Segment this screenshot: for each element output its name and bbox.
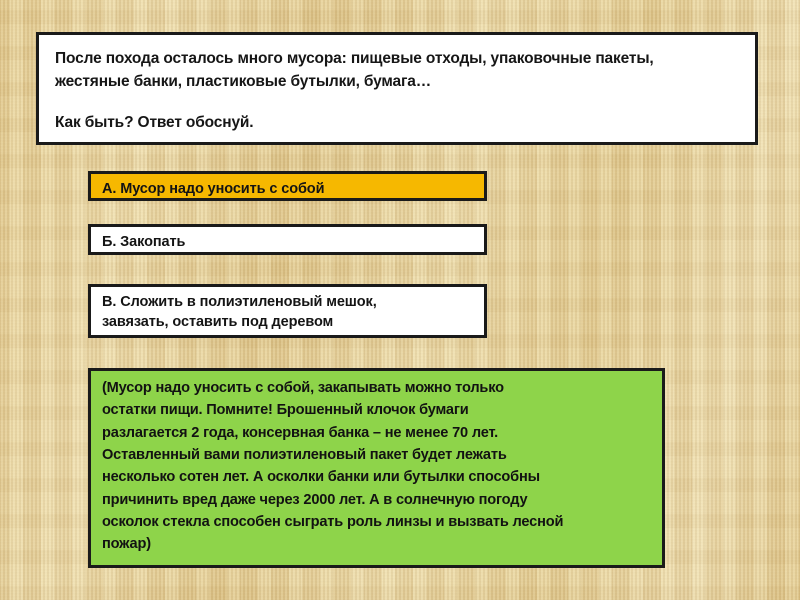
answer-option-c-label-line-2: завязать, оставить под деревом: [102, 312, 474, 332]
explanation-line-5: несколько сотен лет. А осколки банки или…: [102, 466, 654, 488]
answer-option-b[interactable]: Б. Закопать: [88, 224, 487, 255]
explanation-line-2: остатки пищи. Помните! Брошенный клочок …: [102, 399, 654, 421]
question-box: После похода осталось много мусора: пище…: [36, 32, 758, 145]
explanation-line-8: пожар): [102, 533, 654, 555]
explanation-box: (Мусор надо уносить с собой, закапывать …: [88, 368, 665, 568]
answer-option-a-label: А. Мусор надо уносить с собой: [102, 179, 474, 199]
question-line-2: жестяные банки, пластиковые бутылки, бум…: [55, 70, 741, 93]
answer-option-c-label-line-1: В. Сложить в полиэтиленовый мешок,: [102, 292, 474, 312]
explanation-line-4: Оставленный вами полиэтиленовый пакет бу…: [102, 444, 654, 466]
explanation-line-3: разлагается 2 года, консервная банка – н…: [102, 422, 654, 444]
question-spacer: [55, 94, 741, 111]
answer-option-a[interactable]: А. Мусор надо уносить с собой: [88, 171, 487, 201]
question-prompt: Как быть? Ответ обоснуй.: [55, 111, 741, 134]
explanation-line-1: (Мусор надо уносить с собой, закапывать …: [102, 377, 654, 399]
question-line-1: После похода осталось много мусора: пище…: [55, 47, 741, 70]
explanation-line-7: осколок стекла способен сыграть роль лин…: [102, 511, 654, 533]
explanation-line-6: причинить вред даже через 2000 лет. А в …: [102, 489, 654, 511]
answer-option-b-label: Б. Закопать: [102, 232, 474, 252]
slide-canvas: После похода осталось много мусора: пище…: [0, 0, 800, 600]
answer-option-c[interactable]: В. Сложить в полиэтиленовый мешок, завяз…: [88, 284, 487, 338]
